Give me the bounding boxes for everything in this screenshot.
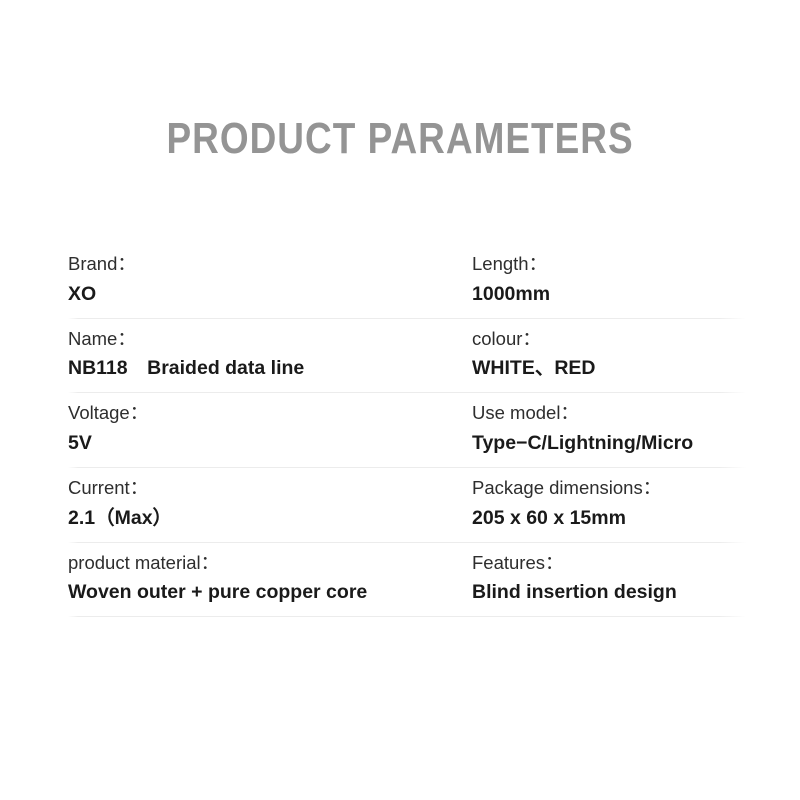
- parameter-cell-length: Length： 1000mm: [472, 252, 746, 307]
- parameter-cell-name: Name： NB118 Braided data line: [68, 327, 472, 382]
- parameter-label: Current：: [68, 476, 464, 500]
- parameter-label: Name：: [68, 327, 464, 351]
- product-parameters-page: PRODUCT PARAMETERS Brand： XO Length： 100…: [0, 0, 800, 800]
- parameter-value: Type−C/Lightning/Micro: [472, 431, 746, 456]
- parameter-cell-brand: Brand： XO: [68, 252, 472, 307]
- parameter-value: 5V: [68, 431, 464, 456]
- parameter-label: Package dimensions：: [472, 476, 746, 500]
- parameter-label: colour：: [472, 327, 746, 351]
- parameter-label: Voltage：: [68, 401, 464, 425]
- parameter-cell-voltage: Voltage： 5V: [68, 401, 472, 456]
- table-row: Voltage： 5V Use model： Type−C/Lightning/…: [68, 393, 746, 468]
- parameter-value: NB118 Braided data line: [68, 356, 464, 381]
- parameter-label: product material：: [68, 551, 464, 575]
- parameter-label: Use model：: [472, 401, 746, 425]
- page-title-container: PRODUCT PARAMETERS: [0, 117, 800, 161]
- parameter-label: Features：: [472, 551, 746, 575]
- parameter-value: Woven outer + pure copper core: [68, 580, 464, 605]
- parameter-cell-product-material: product material： Woven outer + pure cop…: [68, 551, 472, 606]
- parameter-value: XO: [68, 282, 464, 307]
- parameter-value: 205 x 60 x 15mm: [472, 506, 746, 531]
- parameter-value: Blind insertion design: [472, 580, 746, 605]
- parameter-cell-features: Features： Blind insertion design: [472, 551, 746, 606]
- page-title: PRODUCT PARAMETERS: [166, 117, 633, 161]
- parameter-value: 1000mm: [472, 282, 746, 307]
- table-row: Brand： XO Length： 1000mm: [68, 244, 746, 319]
- parameter-cell-current: Current： 2.1（Max）: [68, 476, 472, 531]
- parameter-value: 2.1（Max）: [68, 506, 464, 531]
- parameter-cell-package-dimensions: Package dimensions： 205 x 60 x 15mm: [472, 476, 746, 531]
- parameter-label: Brand：: [68, 252, 464, 276]
- parameter-cell-colour: colour： WHITE、RED: [472, 327, 746, 382]
- parameter-value: WHITE、RED: [472, 356, 746, 381]
- table-row: Current： 2.1（Max） Package dimensions： 20…: [68, 468, 746, 543]
- table-row: product material： Woven outer + pure cop…: [68, 543, 746, 618]
- parameter-cell-use-model: Use model： Type−C/Lightning/Micro: [472, 401, 746, 456]
- parameters-table: Brand： XO Length： 1000mm Name： NB118 Bra…: [68, 244, 746, 617]
- table-row: Name： NB118 Braided data line colour： WH…: [68, 319, 746, 394]
- parameter-label: Length：: [472, 252, 746, 276]
